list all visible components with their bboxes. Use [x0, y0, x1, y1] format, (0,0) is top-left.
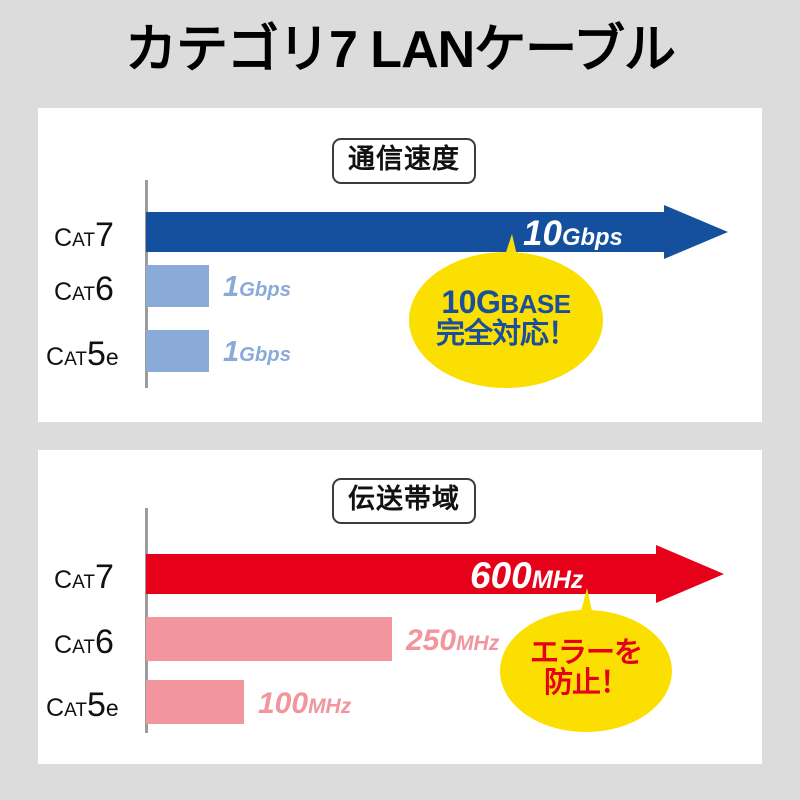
callout-error-prevention: エラーを 防止！: [500, 610, 672, 732]
value-unit: Gbps: [239, 279, 291, 301]
category-number: 6: [95, 270, 114, 308]
value-label-cat6-speed: 1Gbps: [223, 273, 291, 302]
chart-communication-speed: 通信速度 CAT7 CAT6 CAT5e 1: [38, 108, 762, 422]
value-number: 1: [223, 336, 239, 368]
callout-line-2: 防止！: [500, 668, 672, 698]
value-label-cat7-band: 600MHz: [470, 557, 583, 594]
category-word: CAT: [54, 635, 95, 658]
category-label-cat7-speed: CAT7: [54, 218, 114, 252]
callout-line-1: エラーを: [500, 638, 672, 668]
callout-text: エラーを 防止！: [500, 638, 672, 698]
category-label-cat5e-band: CAT5e: [46, 688, 119, 722]
callout-line-2: 完全対応！: [409, 319, 603, 349]
category-label-cat5e-speed: CAT5e: [46, 337, 119, 371]
value-number: 10: [523, 214, 562, 253]
value-unit: Gbps: [562, 224, 623, 251]
value-number: 600: [470, 555, 532, 596]
value-number: 100: [258, 687, 308, 720]
chart-transmission-bandwidth: 伝送帯域 CAT7 CAT6 CAT5e 6: [38, 450, 762, 764]
category-word: CAT: [54, 282, 95, 305]
bar-cat7-speed: [146, 205, 728, 259]
panel-communication-speed: 通信速度 CAT7 CAT6 CAT5e 1: [38, 108, 762, 422]
category-word: CAT: [54, 228, 95, 251]
value-label-cat5e-speed: 1Gbps: [223, 338, 291, 367]
bar-cat6-speed: [146, 265, 209, 307]
bar-cat6-band: [146, 617, 392, 661]
category-label-cat6-band: CAT6: [54, 625, 114, 659]
category-word: CAT: [46, 347, 87, 370]
category-number: 5: [87, 686, 106, 724]
category-label-cat7-band: CAT7: [54, 560, 114, 594]
category-number: 7: [95, 558, 114, 596]
callout-text: 10GBASE 完全対応！: [409, 286, 603, 349]
category-word: CAT: [46, 698, 87, 721]
bar-cat5e-band: [146, 680, 244, 724]
chip-communication-speed: 通信速度: [332, 138, 476, 184]
value-unit: MHz: [456, 632, 499, 655]
value-label-cat6-band: 250MHz: [406, 626, 499, 656]
value-number: 250: [406, 624, 456, 657]
category-suffix: e: [106, 344, 119, 370]
callout-line-1: 10GBASE: [409, 286, 603, 319]
infographic-root: カテゴリ7 LANケーブル 通信速度 CAT7 CAT6: [0, 0, 800, 800]
value-unit: MHz: [308, 695, 351, 718]
value-label-cat5e-band: 100MHz: [258, 689, 351, 719]
category-number: 5: [87, 335, 106, 373]
value-unit: Gbps: [239, 344, 291, 366]
bar-cat5e-speed: [146, 330, 209, 372]
callout-10gbase: 10GBASE 完全対応！: [409, 252, 603, 388]
panel-transmission-bandwidth: 伝送帯域 CAT7 CAT6 CAT5e 6: [38, 450, 762, 764]
chip-transmission-bandwidth: 伝送帯域: [332, 478, 476, 524]
category-number: 6: [95, 623, 114, 661]
category-suffix: e: [106, 695, 119, 721]
category-label-cat6-speed: CAT6: [54, 272, 114, 306]
bar-cat7-band: [146, 545, 724, 603]
page-title: カテゴリ7 LANケーブル: [0, 22, 800, 79]
value-number: 1: [223, 271, 239, 303]
value-label-cat7-speed: 10Gbps: [523, 216, 623, 251]
category-word: CAT: [54, 570, 95, 593]
category-number: 7: [95, 216, 114, 254]
